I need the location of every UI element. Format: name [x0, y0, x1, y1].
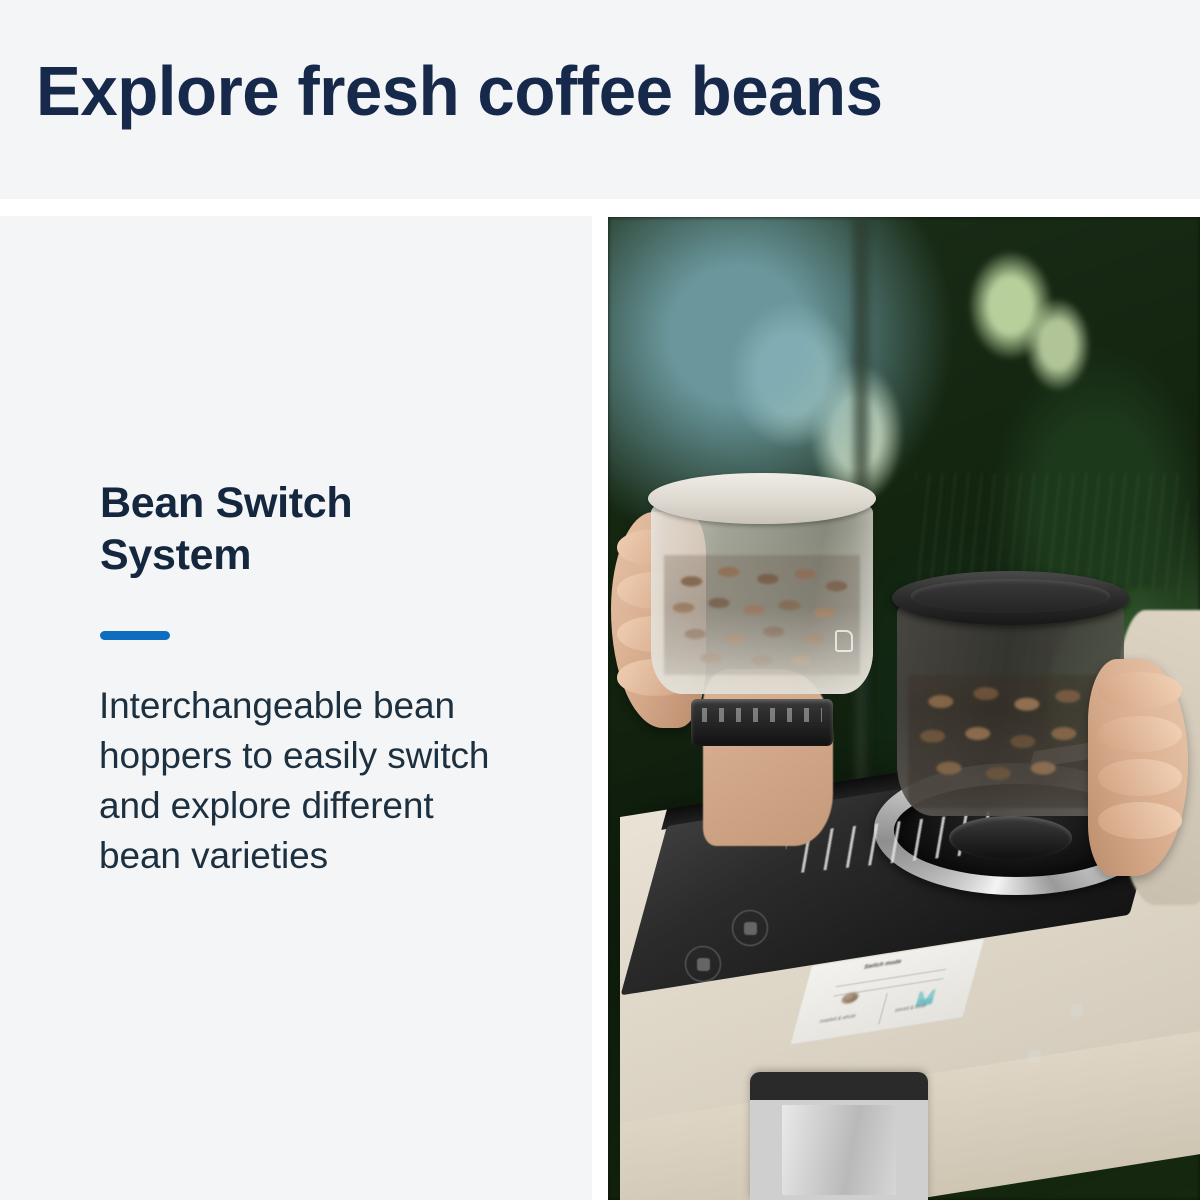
label-text-line: [836, 969, 946, 987]
finger: [1098, 716, 1183, 753]
product-feature-banner: Explore fresh coffee beans Bean Switch S…: [0, 0, 1200, 1200]
hopper-base-collar: [691, 699, 833, 746]
finger: [1098, 672, 1183, 709]
product-photo: Switch mode roasted & whole stored & fre…: [608, 217, 1200, 1200]
switch-mode-left-caption: roasted & whole: [819, 1013, 857, 1025]
feature-heading: Bean Switch System: [100, 477, 500, 581]
hopper-lid-black: [892, 571, 1129, 625]
finger: [1098, 759, 1183, 796]
page-title: Explore fresh coffee beans: [36, 52, 882, 130]
banner-header: Explore fresh coffee beans: [0, 0, 1200, 199]
label-separator: [878, 993, 888, 1024]
bean-hopper-white-lid: [644, 473, 881, 709]
hopper-logo-mark: [835, 630, 853, 652]
feature-description: Interchangeable bean hoppers to easily s…: [99, 681, 519, 881]
feature-text-panel: Bean Switch System Interchangeable bean …: [0, 216, 592, 1200]
settings-touch-icon: [1058, 992, 1094, 1028]
hopper-lid-white: [648, 473, 875, 525]
accent-divider: [100, 631, 170, 640]
switch-mode-right-caption: stored & fresh: [894, 1003, 927, 1014]
hopper-base-collar: [949, 816, 1072, 859]
switch-mode-label-title: Switch mode: [863, 959, 902, 971]
finger: [1098, 802, 1183, 839]
frosted-overlay: [651, 501, 874, 694]
coffee-dispenser-spout: [750, 1072, 928, 1200]
hopper-container: [651, 501, 874, 694]
